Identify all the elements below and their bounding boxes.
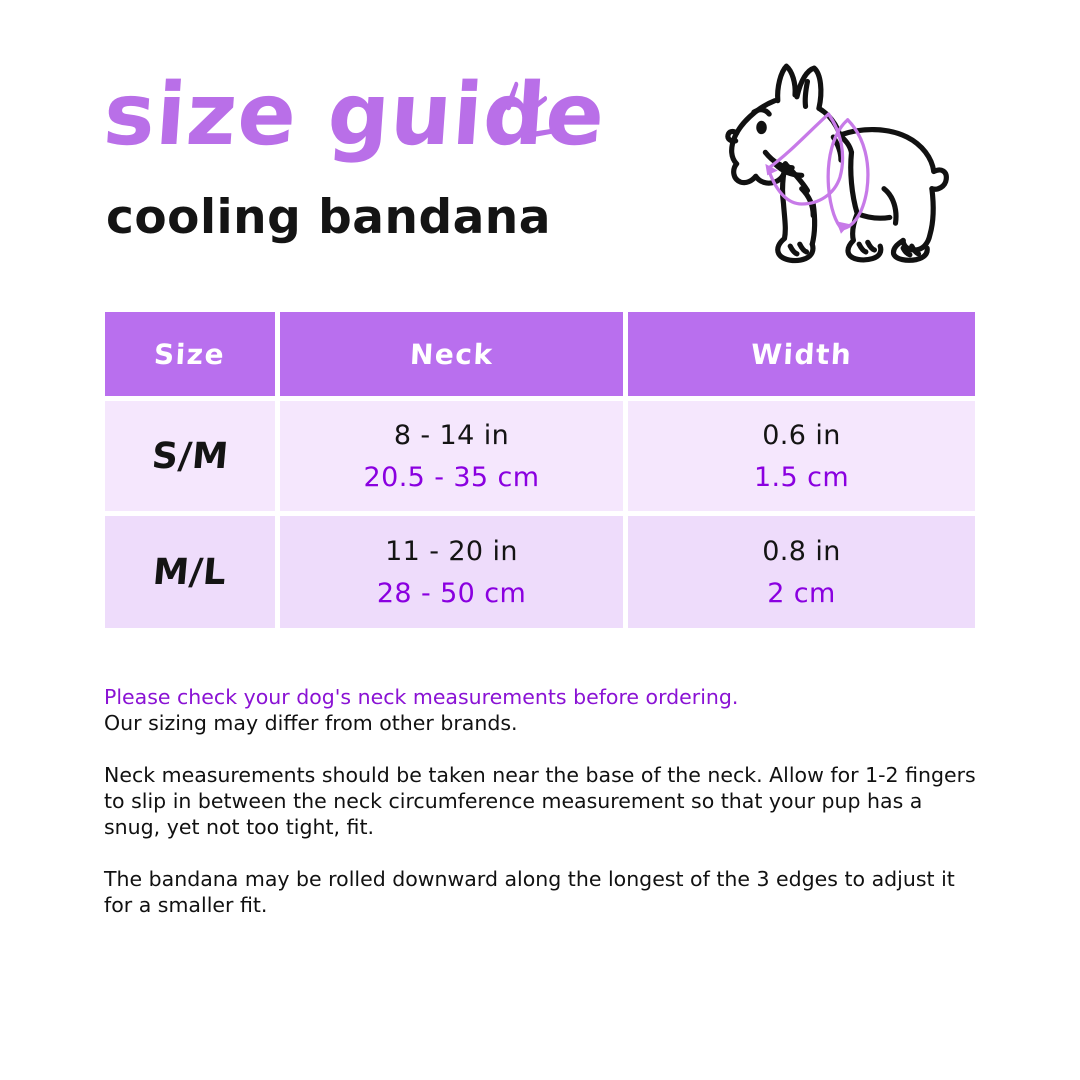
title-block: size guide cooling bandana	[104, 72, 724, 158]
cell-width: 0.8 in 2 cm	[628, 516, 975, 628]
width-inches-value: 0.8 in	[762, 538, 841, 565]
note-secondary-line: Our sizing may differ from other brands.	[104, 710, 976, 736]
neck-inches-value: 11 - 20 in	[385, 538, 518, 565]
note-paragraph-rolling: The bandana may be rolled downward along…	[104, 866, 976, 918]
cell-size: S/M	[105, 401, 275, 511]
table-row: M/L 11 - 20 in 28 - 50 cm 0.8 in 2 cm	[105, 516, 975, 628]
header-area: size guide cooling bandana	[0, 0, 1080, 290]
page-subtitle: cooling bandana	[106, 194, 551, 241]
neck-inches-value: 8 - 14 in	[394, 422, 509, 449]
size-table: Size Neck Width S/M 8 - 14 in 20.5 - 35 …	[105, 312, 975, 628]
cell-size: M/L	[105, 516, 275, 628]
width-cm-value: 2 cm	[767, 580, 836, 607]
size-label: S/M	[150, 436, 230, 477]
sparkle-icon	[487, 72, 567, 152]
cell-width: 0.6 in 1.5 cm	[628, 401, 975, 511]
note-paragraph-measuring: Neck measurements should be taken near t…	[104, 762, 976, 840]
notes-spacer	[104, 736, 976, 762]
width-inches-value: 0.6 in	[762, 422, 841, 449]
cell-neck: 11 - 20 in 28 - 50 cm	[280, 516, 623, 628]
neck-cm-value: 28 - 50 cm	[377, 580, 526, 607]
table-header-cell-size: Size	[105, 312, 275, 396]
table-header-row: Size Neck Width	[105, 312, 975, 396]
column-header-width-label: Width	[750, 338, 853, 371]
table-row: S/M 8 - 14 in 20.5 - 35 cm 0.6 in 1.5 cm	[105, 401, 975, 511]
size-label: M/L	[151, 552, 228, 593]
column-header-size-label: Size	[154, 338, 227, 371]
table-header-cell-width: Width	[628, 312, 975, 396]
notes-spacer	[104, 840, 976, 866]
table-header-cell-neck: Neck	[280, 312, 623, 396]
cell-neck: 8 - 14 in 20.5 - 35 cm	[280, 401, 623, 511]
notes-block: Please check your dog's neck measurement…	[104, 684, 976, 918]
column-header-neck-label: Neck	[409, 338, 494, 371]
note-highlight: Please check your dog's neck measurement…	[104, 684, 976, 710]
french-bulldog-illustration	[706, 44, 974, 276]
neck-cm-value: 20.5 - 35 cm	[364, 464, 540, 491]
width-cm-value: 1.5 cm	[754, 464, 849, 491]
